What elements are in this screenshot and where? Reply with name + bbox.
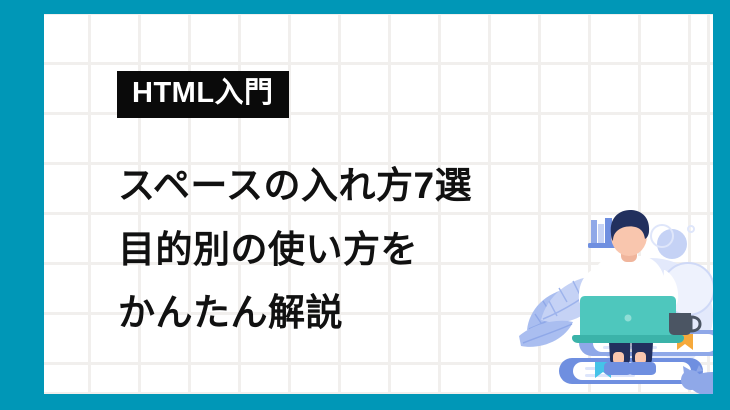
shoe-left xyxy=(604,362,632,375)
category-badge: HTML入門 xyxy=(117,71,289,118)
title-line-1: スペースの入れ方7選 xyxy=(118,154,472,218)
title-line-3: かんたん解説 xyxy=(118,281,472,345)
grid-panel: HTML入門 スペースの入れ方7選 目的別の使い方を かんたん解説 xyxy=(44,14,713,394)
laptop xyxy=(572,296,684,343)
person-working-on-laptop-illustration xyxy=(499,204,713,394)
shoe-right xyxy=(628,362,656,375)
thumbnail-card: HTML入門 スペースの入れ方7選 目的別の使い方を かんたん解説 xyxy=(0,0,730,410)
page-title: スペースの入れ方7選 目的別の使い方を かんたん解説 xyxy=(118,154,472,345)
title-line-2: 目的別の使い方を xyxy=(118,218,472,282)
